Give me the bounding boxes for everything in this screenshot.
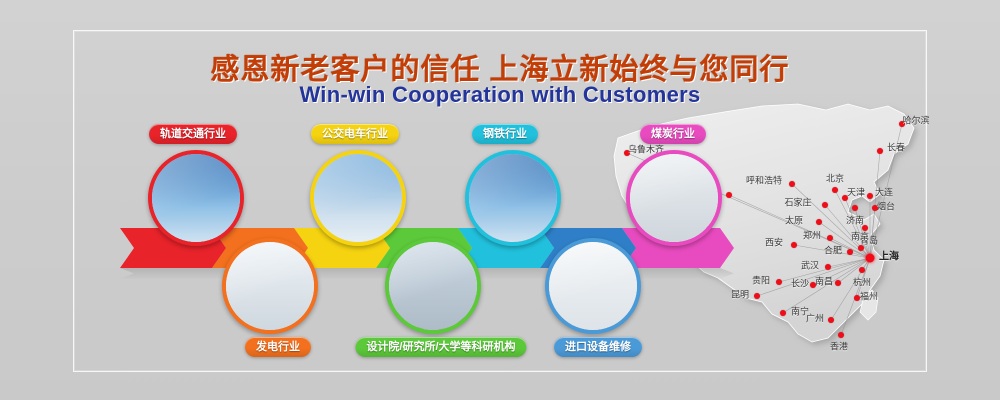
city-dot (828, 317, 834, 323)
industry-badge-coal[interactable]: 煤炭行业 (640, 124, 706, 144)
city-label: 昆明 (731, 288, 749, 301)
city-dot (825, 264, 831, 270)
city-label: 武汉 (801, 259, 819, 272)
industry-badge-bus-trolley[interactable]: 公交电车行业 (311, 124, 399, 144)
page-title-english: Win-win Cooperation with Customers (0, 82, 1000, 108)
city-label: 济南 (846, 214, 864, 227)
city-label: 太原 (785, 214, 803, 227)
city-label: 长沙 (791, 277, 809, 290)
city-label: 大连 (875, 186, 893, 199)
banner-stage: 哈尔滨长春乌鲁木齐呼和浩特北京天津大连银川石家庄济南烟台太原青岛郑州西安南京合肥… (0, 0, 1000, 400)
industry-photo-power-generation (226, 242, 314, 330)
city-dot (789, 181, 795, 187)
city-dot (822, 202, 828, 208)
city-label: 南昌 (815, 275, 833, 288)
industry-photo-bus-trolley (314, 154, 402, 242)
city-label: 上海 (879, 248, 899, 263)
industry-photo-rail-transit (152, 154, 240, 242)
industry-photo-import-equipment (549, 242, 637, 330)
city-label: 南京 (851, 230, 869, 243)
city-label: 郑州 (803, 229, 821, 242)
industry-badge-import-equipment[interactable]: 进口设备维修 (554, 337, 642, 357)
industry-photo-research-institute (389, 242, 477, 330)
industry-photo-coal (630, 154, 718, 242)
industry-circle-steel[interactable] (465, 150, 561, 246)
city-label: 福州 (860, 290, 878, 303)
industry-circle-bus-trolley[interactable] (310, 150, 406, 246)
industry-circle-import-equipment[interactable] (545, 238, 641, 334)
industry-badge-power-generation[interactable]: 发电行业 (245, 337, 311, 357)
city-dot (866, 254, 875, 263)
industry-circle-research-institute[interactable] (385, 238, 481, 334)
city-label: 呼和浩特 (746, 174, 782, 187)
city-label: 天津 (847, 186, 865, 199)
industry-badge-rail-transit[interactable]: 轨道交通行业 (149, 124, 237, 144)
city-dot (791, 242, 797, 248)
industry-photo-steel (469, 154, 557, 242)
city-dot (776, 279, 782, 285)
city-dot (832, 187, 838, 193)
city-dot (816, 219, 822, 225)
city-dot (847, 249, 853, 255)
city-dot (867, 193, 873, 199)
city-dot (726, 192, 732, 198)
city-label: 石家庄 (784, 196, 811, 209)
industry-badge-research-institute[interactable]: 设计院/研究所/大学等科研机构 (355, 337, 526, 357)
city-label: 长春 (887, 141, 905, 154)
chevron-shadow (120, 268, 226, 280)
city-dot (754, 293, 760, 299)
city-dot (877, 148, 883, 154)
city-label: 西安 (765, 236, 783, 249)
city-dot (780, 310, 786, 316)
city-label: 合肥 (824, 244, 842, 257)
city-dot (859, 267, 865, 273)
city-label: 贵阳 (752, 274, 770, 287)
industry-circle-power-generation[interactable] (222, 238, 318, 334)
city-label: 哈尔滨 (902, 114, 929, 127)
city-label: 烟台 (877, 200, 895, 213)
city-label: 广州 (806, 312, 824, 325)
city-label: 杭州 (853, 276, 871, 289)
city-dot (858, 245, 864, 251)
industry-circle-coal[interactable] (626, 150, 722, 246)
city-label: 北京 (826, 172, 844, 185)
city-dot (852, 205, 858, 211)
industry-badge-steel[interactable]: 钢铁行业 (472, 124, 538, 144)
city-dot (835, 280, 841, 286)
industry-circle-rail-transit[interactable] (148, 150, 244, 246)
city-dot (827, 235, 833, 241)
city-label: 香港 (830, 340, 848, 353)
city-dot (838, 332, 844, 338)
